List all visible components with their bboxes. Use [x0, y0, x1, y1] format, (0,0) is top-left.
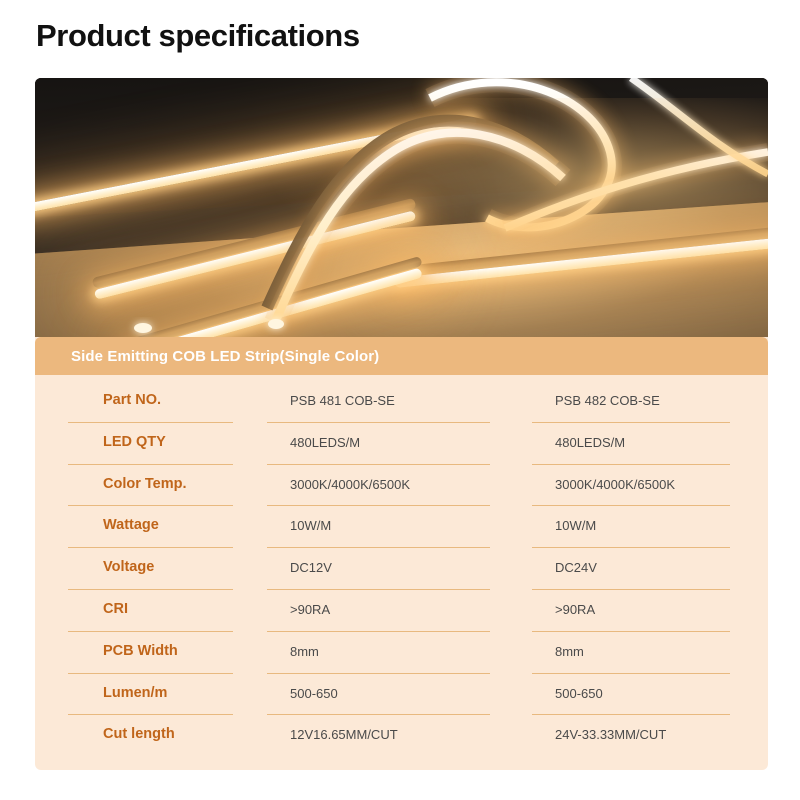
specification-card: Side Emitting COB LED Strip(Single Color… [35, 78, 768, 770]
page-title: Product specifications [36, 18, 360, 54]
table-row: Part NO. PSB 481 COB-SE PSB 482 COB-SE [35, 381, 768, 423]
spec-value-col1: 12V16.65MM/CUT [245, 715, 510, 757]
product-photo [35, 78, 768, 337]
led-strip-curves [35, 78, 768, 337]
table-row: Color Temp. 3000K/4000K/6500K 3000K/4000… [35, 465, 768, 507]
spec-table: Part NO. PSB 481 COB-SE PSB 482 COB-SE L… [35, 375, 768, 757]
spec-value-col1: 10W/M [245, 506, 510, 548]
spec-label: Cut length [35, 715, 245, 757]
spec-label: LED QTY [35, 423, 245, 465]
spec-label: Part NO. [35, 381, 245, 423]
spec-label: PCB Width [35, 632, 245, 674]
spec-value-col2: 500-650 [510, 674, 768, 716]
spec-value-col2: 480LEDS/M [510, 423, 768, 465]
table-row: PCB Width 8mm 8mm [35, 632, 768, 674]
spec-value-col1: 8mm [245, 632, 510, 674]
table-row: Wattage 10W/M 10W/M [35, 506, 768, 548]
spec-label: Voltage [35, 548, 245, 590]
table-row: Voltage DC12V DC24V [35, 548, 768, 590]
spec-label: CRI [35, 590, 245, 632]
spec-value-col2: 24V-33.33MM/CUT [510, 715, 768, 757]
spec-label: Wattage [35, 506, 245, 548]
spec-label: Color Temp. [35, 465, 245, 507]
spec-value-col1: 480LEDS/M [245, 423, 510, 465]
spec-value-col1: DC12V [245, 548, 510, 590]
spec-value-col2: >90RA [510, 590, 768, 632]
table-row: Lumen/m 500-650 500-650 [35, 674, 768, 716]
spec-label: Lumen/m [35, 674, 245, 716]
spec-value-col2: 10W/M [510, 506, 768, 548]
table-row: LED QTY 480LEDS/M 480LEDS/M [35, 423, 768, 465]
spec-value-col1: 500-650 [245, 674, 510, 716]
table-row: CRI >90RA >90RA [35, 590, 768, 632]
spec-value-col2: PSB 482 COB-SE [510, 381, 768, 423]
spec-value-col2: DC24V [510, 548, 768, 590]
product-specifications-page: Product specifications [0, 0, 800, 800]
spec-value-col1: PSB 481 COB-SE [245, 381, 510, 423]
spec-value-col1: 3000K/4000K/6500K [245, 465, 510, 507]
spec-value-col2: 8mm [510, 632, 768, 674]
spec-value-col1: >90RA [245, 590, 510, 632]
spec-value-col2: 3000K/4000K/6500K [510, 465, 768, 507]
table-row: Cut length 12V16.65MM/CUT 24V-33.33MM/CU… [35, 715, 768, 757]
card-header-title: Side Emitting COB LED Strip(Single Color… [71, 348, 379, 365]
card-header-bar: Side Emitting COB LED Strip(Single Color… [35, 337, 768, 375]
